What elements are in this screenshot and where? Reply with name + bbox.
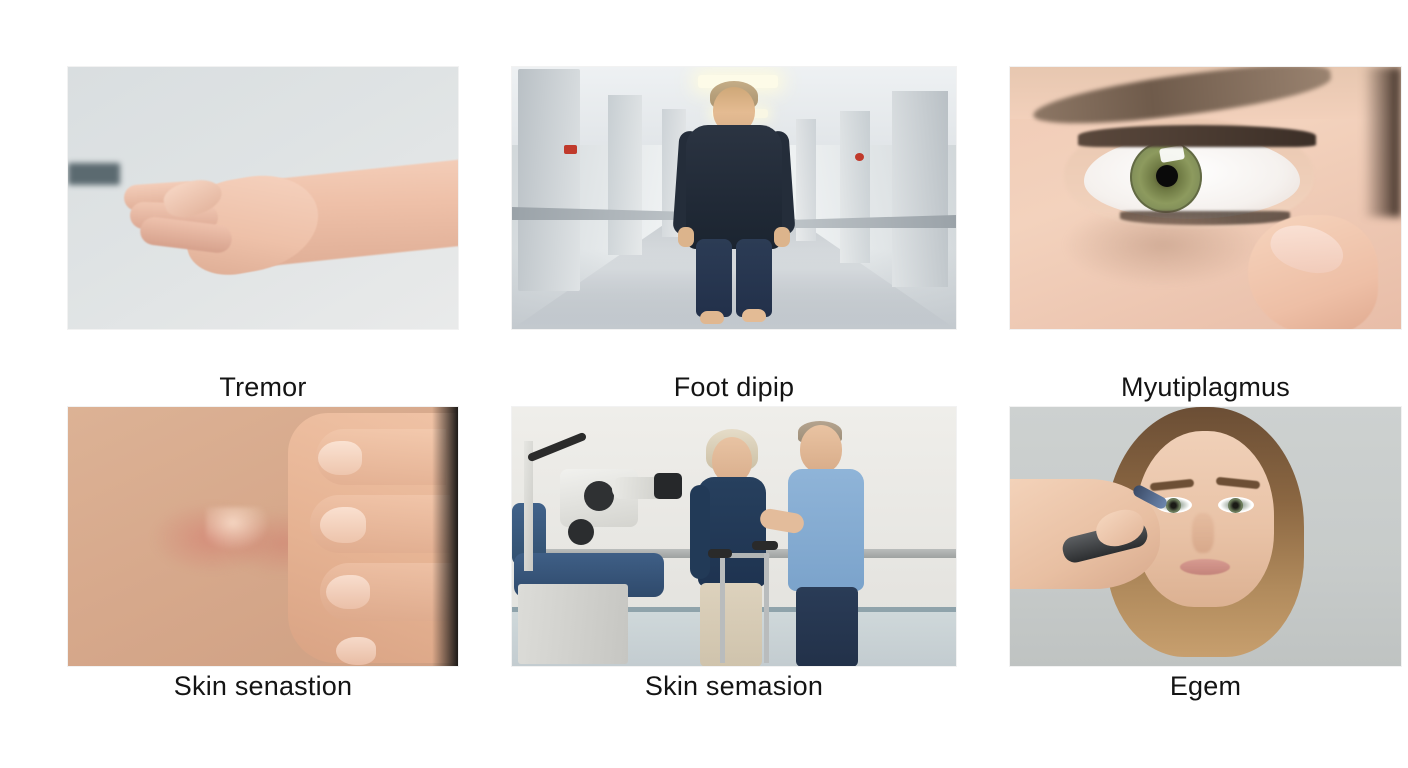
caption-skin-senastion: Skin senastion (68, 666, 458, 706)
grid-item-skin-senastion[interactable] (68, 407, 458, 666)
subject-iris-left (1166, 498, 1181, 513)
wall-fixture-blur (68, 163, 120, 185)
background-shadow (1363, 67, 1401, 217)
door-right-mid (840, 111, 870, 263)
grid-item-foot-dipip[interactable] (512, 67, 956, 367)
patient-legs (700, 583, 762, 666)
grid-item-tremor[interactable] (68, 67, 458, 367)
wall-alarm-left (564, 145, 577, 154)
slit-lamp-optic-three (654, 473, 682, 499)
eye-exam-photo[interactable] (1010, 407, 1401, 666)
eye-closeup-photo[interactable] (1010, 67, 1401, 329)
grid-item-myutiplagmus[interactable] (1010, 67, 1401, 367)
fingernail-two (320, 507, 366, 543)
slit-lamp-optic-four (568, 519, 594, 545)
exam-room-photo[interactable] (512, 407, 956, 666)
grid-item-egem[interactable] (1010, 407, 1401, 666)
walking-person-foot-left (700, 311, 724, 324)
fingernail-one (318, 441, 362, 475)
walker-grip-left (708, 549, 732, 558)
walking-person-leg-left (696, 239, 732, 317)
skin-redness-photo[interactable] (68, 407, 458, 666)
clinician-head (800, 425, 842, 473)
grid-item-skin-semasion[interactable] (512, 407, 956, 666)
patient-arm (690, 485, 710, 579)
pupil (1156, 165, 1178, 187)
walking-person-foot-right (742, 309, 766, 322)
walking-person-leg-right (736, 239, 772, 317)
walking-person-hand-right (774, 227, 790, 247)
raised-bump-highlight (206, 507, 270, 551)
image-caption-grid: Tremor Foot dipip Myutiplagmus (0, 0, 1408, 768)
walking-person-hand-left (678, 227, 694, 247)
caption-skin-semasion: Skin semasion (512, 666, 956, 706)
slit-lamp-base (518, 584, 628, 664)
walking-person-torso (686, 125, 782, 249)
under-eye-shadow (1062, 217, 1262, 287)
subject-lips (1180, 559, 1230, 575)
subject-iris-right (1228, 498, 1243, 513)
walker-grip-right (752, 541, 778, 550)
caption-tremor: Tremor (68, 367, 458, 407)
hand-forearm-photo[interactable] (68, 67, 458, 329)
walker-leg-right (764, 553, 769, 663)
door-left-near (518, 69, 580, 291)
door-left-mid (608, 95, 642, 255)
caption-egem: Egem (1010, 666, 1401, 706)
background-shadow (432, 407, 458, 666)
wall-alarm-right (855, 153, 864, 161)
door-right-near (892, 91, 948, 287)
fingernail-four (336, 637, 376, 665)
slit-lamp-optic-one (584, 481, 614, 511)
clinician-legs (796, 587, 858, 666)
caption-myutiplagmus: Myutiplagmus (1010, 367, 1401, 407)
subject-nose (1192, 513, 1214, 553)
caption-foot-dipip: Foot dipip (512, 367, 956, 407)
walker-leg-left (720, 557, 725, 663)
hospital-corridor-photo[interactable] (512, 67, 956, 329)
upper-eyelashes (1078, 125, 1316, 147)
fingernail-three (326, 575, 370, 609)
